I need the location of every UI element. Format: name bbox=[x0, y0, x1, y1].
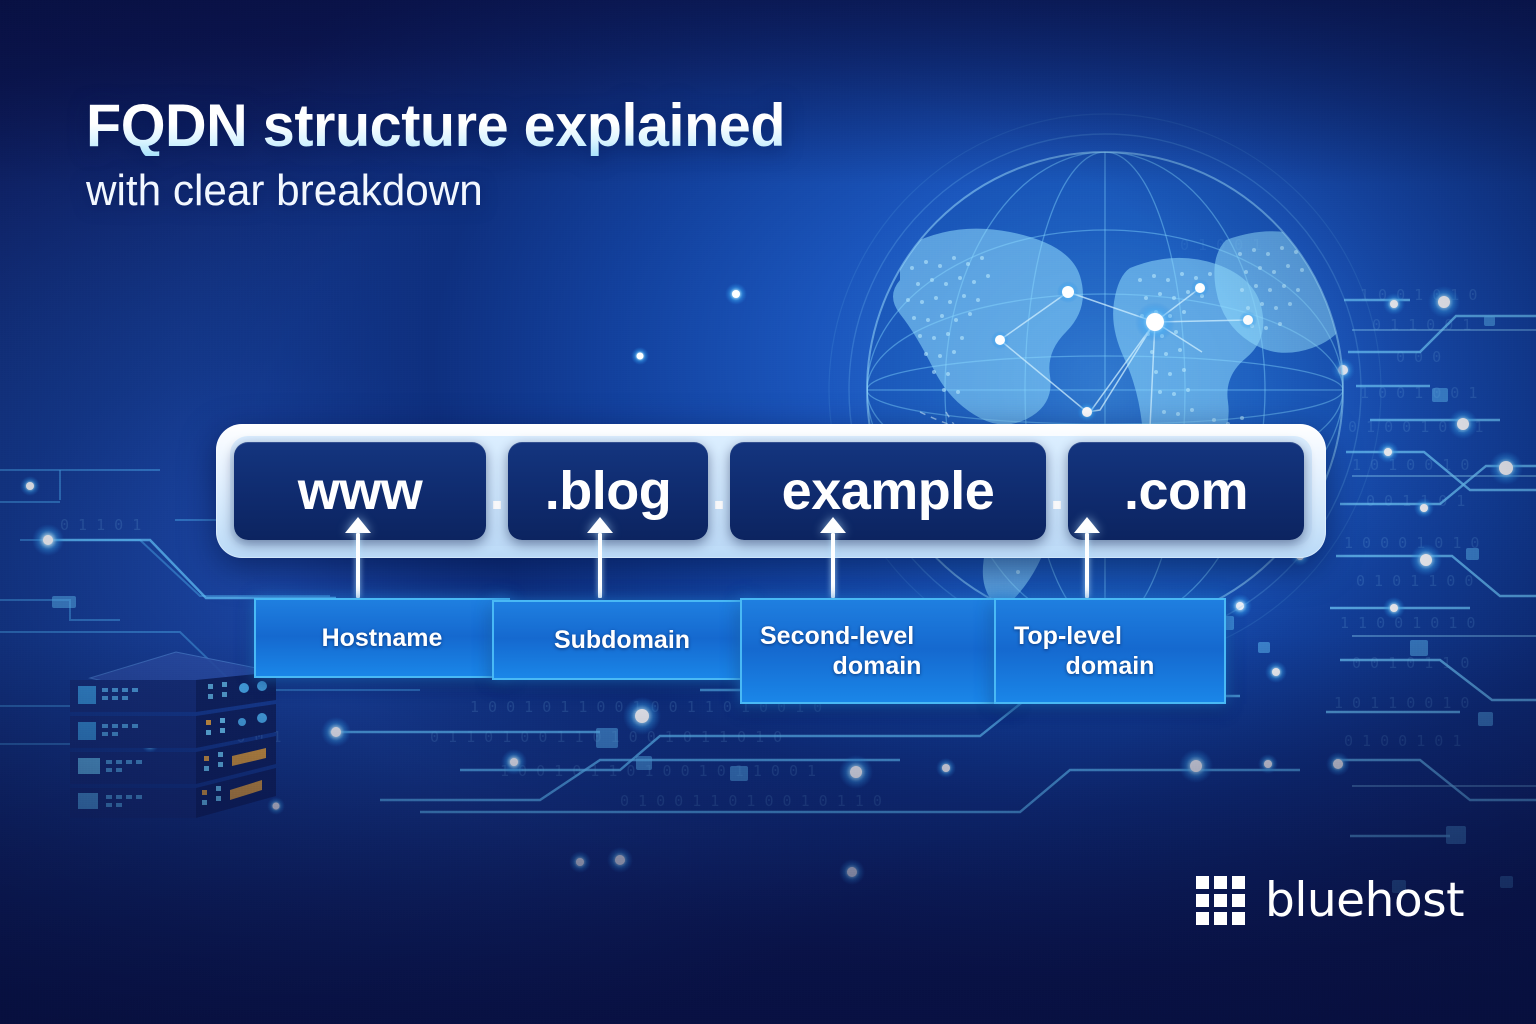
label-top-level-line2: domain bbox=[1014, 651, 1206, 682]
connector-arrow-hostname bbox=[345, 517, 371, 533]
fqdn-segment-top-level-domain[interactable]: .com bbox=[1068, 442, 1304, 540]
label-second-level-line1: Second-level bbox=[760, 621, 994, 652]
nine-square-grid-icon bbox=[1196, 876, 1245, 925]
segment-separator-dot-3: . bbox=[1046, 442, 1068, 540]
label-box-top-level-domain[interactable]: Top-level domain bbox=[994, 598, 1226, 704]
label-subdomain: Subdomain bbox=[512, 625, 732, 656]
segment-separator-dot-2: . bbox=[708, 442, 730, 540]
fqdn-segment-second-level-domain[interactable]: example bbox=[730, 442, 1046, 540]
label-box-second-level-domain[interactable]: Second-level domain bbox=[740, 598, 1014, 704]
label-second-level-line2: domain bbox=[760, 651, 994, 682]
fqdn-address-bar: www . .blog . example . .com bbox=[216, 424, 1326, 558]
connector-arrow-top-level bbox=[1074, 517, 1100, 533]
label-box-hostname[interactable]: Hostname bbox=[254, 598, 510, 678]
fqdn-segments: www . .blog . example . .com bbox=[234, 442, 1304, 540]
label-hostname: Hostname bbox=[274, 623, 490, 654]
infographic-canvas: 1 0 0 1 0 1 0 0 1 1 0 0 1 0 0 0 1 0 0 1 … bbox=[0, 0, 1536, 1024]
connector-line-top-level bbox=[1085, 533, 1089, 598]
bluehost-wordmark: bluehost bbox=[1265, 877, 1464, 924]
page-subtitle: with clear breakdown bbox=[86, 168, 1046, 214]
header-block: FQDN structure explained with clear brea… bbox=[86, 96, 1086, 214]
connector-arrow-second-level bbox=[820, 517, 846, 533]
label-top-level-line1: Top-level bbox=[1014, 621, 1206, 652]
page-title: FQDN structure explained bbox=[86, 96, 1046, 156]
bluehost-logo[interactable]: bluehost bbox=[1196, 876, 1464, 925]
connector-line-hostname bbox=[356, 533, 360, 598]
connector-line-second-level bbox=[831, 533, 835, 598]
connector-line-subdomain bbox=[598, 533, 602, 598]
segment-separator-dot-1: . bbox=[486, 442, 508, 540]
label-box-subdomain[interactable]: Subdomain bbox=[492, 600, 752, 680]
connector-arrow-subdomain bbox=[587, 517, 613, 533]
